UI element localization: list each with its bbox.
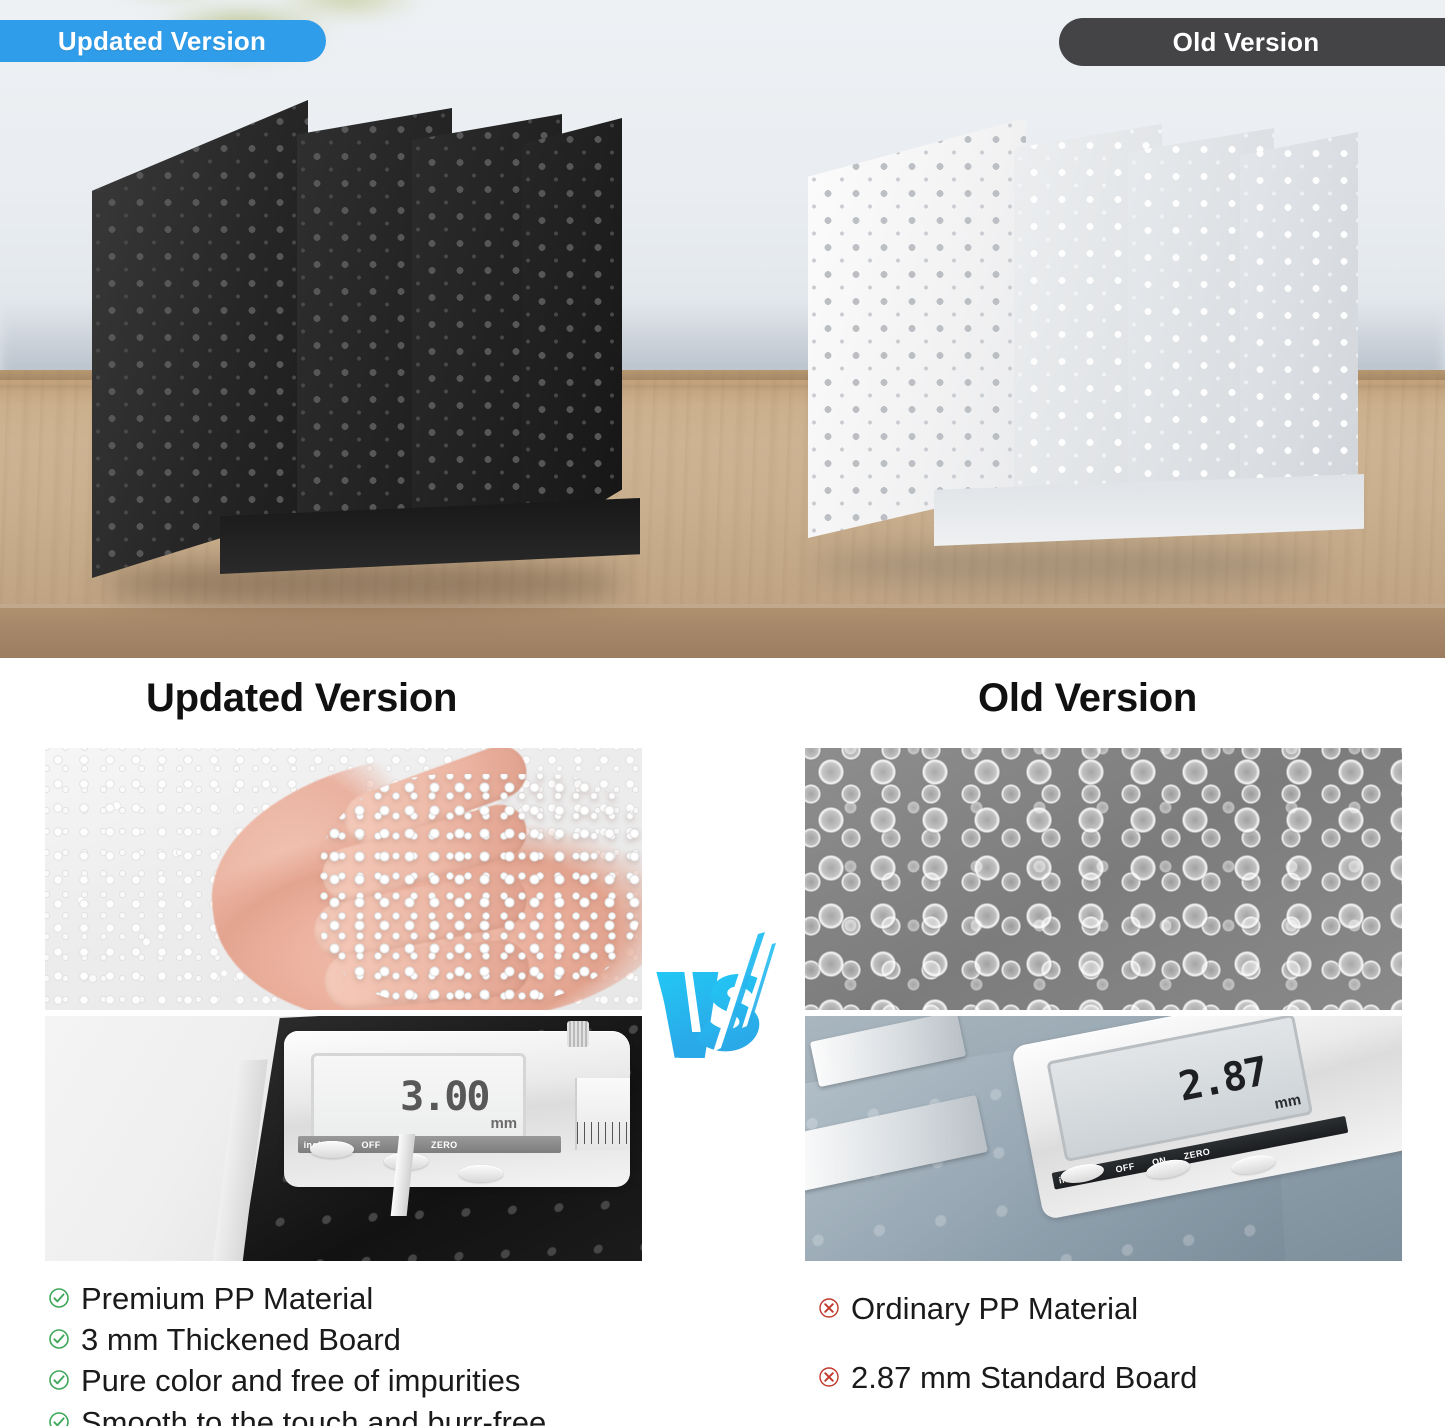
caliper-button-zero <box>1230 1153 1276 1178</box>
organizer-left-wall <box>92 100 308 578</box>
caliper-button-inchmm <box>310 1141 354 1158</box>
list-item-label: Pure color and free of impurities <box>81 1360 520 1401</box>
list-item: 2.87 mm Standard Board <box>818 1357 1197 1398</box>
desk-front-face <box>0 604 1445 658</box>
caliper-scene: 2.87 mm inch/mm OFF ON ZERO <box>805 1016 1402 1261</box>
list-item-label: Smooth to the touch and burr-free <box>81 1402 546 1426</box>
list-item-label: 3 mm Thickened Board <box>81 1319 401 1360</box>
pellet-pile <box>320 774 642 1005</box>
perforation-dots <box>808 118 1026 538</box>
caliper-ruler-scale <box>575 1078 630 1150</box>
product-comparison-image: Updated Version Old Version Updated Vers… <box>0 0 1445 1426</box>
organizer-right-wall <box>1240 132 1358 524</box>
caliper-buttons <box>305 1137 554 1190</box>
caliper-unit: mm <box>490 1115 517 1137</box>
list-item: Smooth to the touch and burr-free <box>48 1402 546 1426</box>
perforation-dots <box>1240 132 1358 524</box>
clear-pellet-texture <box>805 748 1402 1010</box>
list-item-label: 2.87 mm Standard Board <box>851 1357 1197 1398</box>
list-item: Ordinary PP Material <box>818 1288 1197 1329</box>
white-organizer-shadow <box>810 545 1330 585</box>
old-version-feature-list: Ordinary PP Material 2.87 mm Standard Bo… <box>818 1288 1197 1426</box>
list-item: Premium PP Material <box>48 1278 546 1319</box>
caliper-scene: meinaite 3.00 mm inch/mm OFF ON ZERO <box>45 1016 642 1261</box>
badge-old-version: Old Version <box>1059 18 1445 66</box>
hero-product-photo: Updated Version Old Version <box>0 0 1445 658</box>
perforation-dots <box>92 100 308 578</box>
white-magazine-organizer <box>808 118 1363 548</box>
check-circle-icon <box>48 1369 70 1391</box>
caliper-jaw-upper <box>810 1016 966 1087</box>
caliper-jaw-lower <box>805 1095 988 1191</box>
white-pp-pellets-in-hand-photo <box>45 748 642 1010</box>
caliper-unit: mm <box>1273 1092 1303 1119</box>
caliper-measuring-black-board-photo: meinaite 3.00 mm inch/mm OFF ON ZERO <box>45 1016 642 1261</box>
caliper-thumb-knob <box>567 1021 589 1047</box>
digital-caliper-body: 2.87 mm inch/mm OFF ON ZERO <box>1011 1016 1402 1221</box>
cross-circle-icon <box>818 1297 840 1319</box>
list-item-label: Ordinary PP Material <box>851 1288 1138 1329</box>
clear-pp-pellets-photo <box>805 748 1402 1010</box>
badge-updated-version-label: Updated Version <box>58 26 266 57</box>
cross-circle-icon <box>818 1366 840 1388</box>
caliper-button-onoff <box>1144 1157 1190 1182</box>
caliper-measuring-grey-board-photo: 2.87 mm inch/mm OFF ON ZERO <box>805 1016 1402 1261</box>
heading-old-version: Old Version <box>978 676 1197 721</box>
check-circle-icon <box>48 1411 70 1426</box>
caliper-button-zero <box>459 1165 503 1182</box>
black-magazine-organizer <box>92 100 622 578</box>
organizer-right-wall <box>522 118 622 550</box>
caliper-lcd-screen: 3.00 mm <box>311 1053 526 1141</box>
list-item-label: Premium PP Material <box>81 1278 373 1319</box>
list-item: 3 mm Thickened Board <box>48 1319 546 1360</box>
vs-icon <box>655 930 800 1060</box>
perforation-dots <box>522 118 622 550</box>
heading-updated-version: Updated Version <box>146 676 457 721</box>
digital-caliper-body: meinaite 3.00 mm inch/mm OFF ON ZERO <box>284 1031 630 1188</box>
updated-version-feature-list: Premium PP Material 3 mm Thickened Board… <box>48 1278 546 1426</box>
caliper-button-inchmm <box>1059 1161 1105 1186</box>
organizer-left-wall <box>808 118 1026 538</box>
badge-updated-version: Updated Version <box>0 20 326 62</box>
caliper-reading: 2.87 <box>1176 1052 1270 1108</box>
caliper-reading: 3.00 <box>400 1077 488 1117</box>
vs-badge <box>655 930 800 1060</box>
badge-old-version-label: Old Version <box>1173 27 1320 58</box>
check-circle-icon <box>48 1328 70 1350</box>
list-item: Pure color and free of impurities <box>48 1360 546 1401</box>
check-circle-icon <box>48 1287 70 1309</box>
